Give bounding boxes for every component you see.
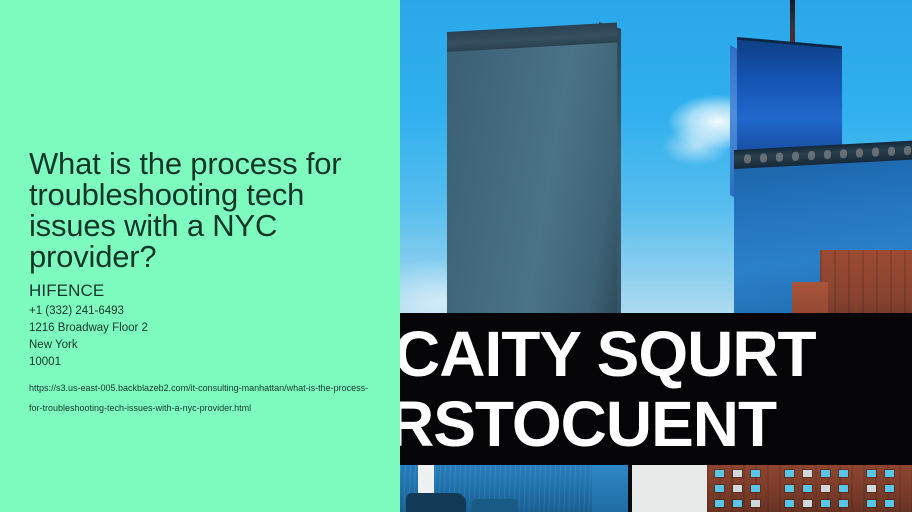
hero-photo: CAITY SQURT RSTOCUENT [400,0,912,512]
address-city: New York [29,337,377,354]
overlay-text-band: CAITY SQURT RSTOCUENT [400,313,912,465]
left-content-panel: What is the process for troubleshooting … [0,0,400,512]
overlay-headline-line-1: CAITY SQURT [400,319,912,389]
page-title: What is the process for troubleshooting … [29,148,377,272]
bottom-blue-column [592,465,628,512]
left-tower-building [447,28,617,330]
contact-details: +1 (332) 241-6493 1216 Broadway Floor 2 … [29,303,377,371]
text-block: What is the process for troubleshooting … [29,148,377,418]
bottom-brick-buildings [707,465,912,512]
photo-bottom-strip [400,465,912,512]
address-street: 1216 Broadway Floor 2 [29,320,377,337]
page-url[interactable]: https://s3.us-east-005.backblazeb2.com/i… [29,378,369,418]
bottom-dark-shape-mid [472,499,518,512]
bottom-white-panel [632,465,707,512]
overlay-headline-line-2: RSTOCUENT [400,389,912,459]
bottom-dark-shape-left [406,493,466,512]
address-zip: 10001 [29,354,377,371]
phone-number[interactable]: +1 (332) 241-6493 [29,303,377,320]
brand-name: HIFENCE [29,281,377,301]
page-root: What is the process for troubleshooting … [0,0,912,512]
